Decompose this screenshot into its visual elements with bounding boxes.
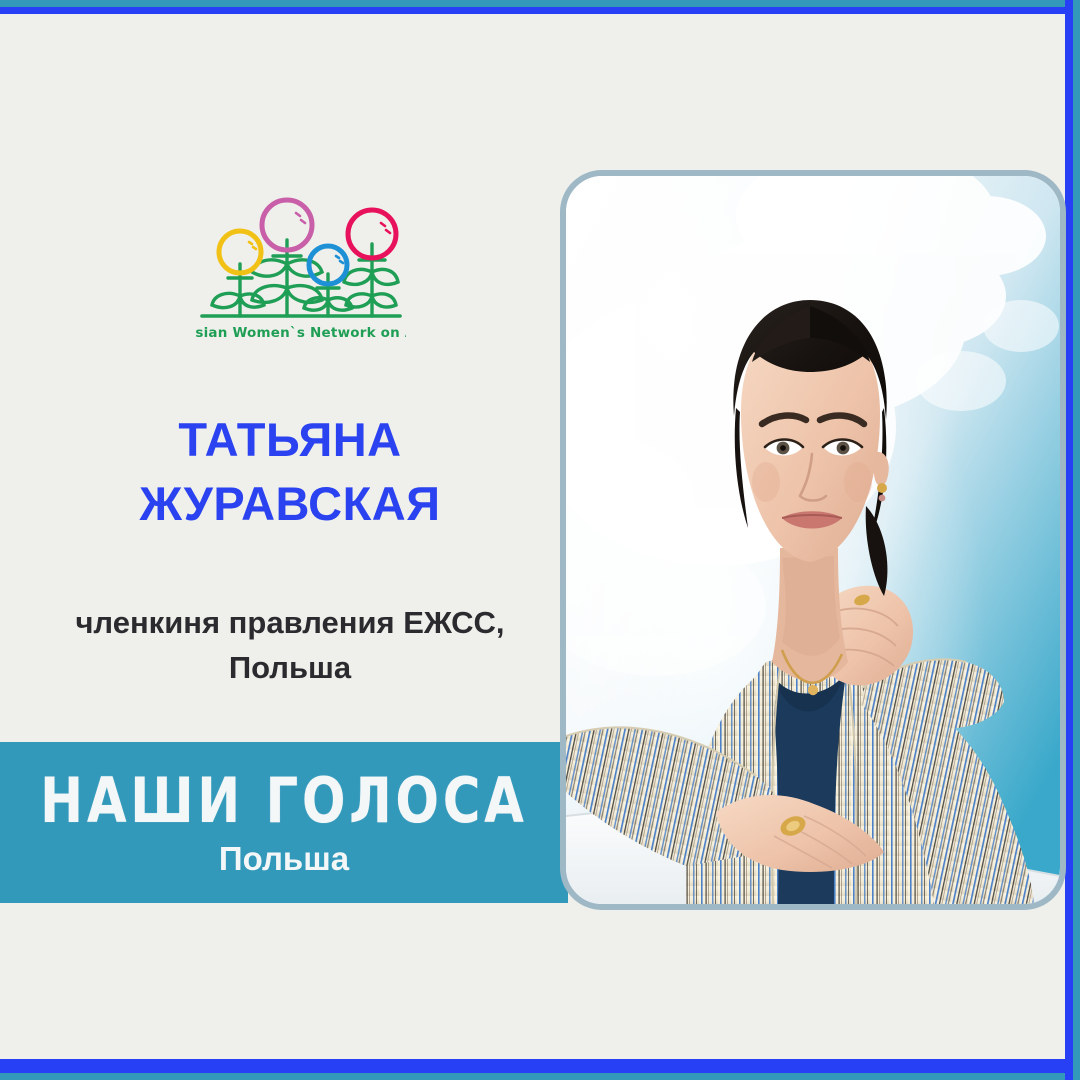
series-banner: НАШИ ГОЛОСА Польша [0, 742, 568, 903]
frame-band-right-blue [1065, 0, 1073, 1080]
ewna-logo: Eurasian Women`s Network on AIDS [196, 192, 406, 350]
frame-band-top-teal [0, 0, 1080, 7]
frame-band-right-teal [1073, 0, 1080, 1080]
person-name: ТАТЬЯНА ЖУРАВСКАЯ [10, 408, 570, 536]
series-banner-subtitle: Польша [219, 838, 349, 880]
person-name-line-2: ЖУРАВСКАЯ [10, 472, 570, 536]
logo-caption: Eurasian Women`s Network on AIDS [196, 325, 406, 341]
frame-band-top-blue [0, 7, 1080, 14]
poster-canvas: Eurasian Women`s Network on AIDS ТАТЬЯНА… [0, 0, 1080, 1080]
person-name-line-1: ТАТЬЯНА [10, 408, 570, 472]
portrait-photo-card [560, 170, 1066, 910]
person-role: членкиня правления ЕЖСС, Польша [10, 600, 570, 690]
frame-band-bottom-teal [0, 1073, 1080, 1080]
frame-band-bottom-blue [0, 1059, 1080, 1073]
portrait-photo [566, 176, 1060, 904]
person-role-line-1: членкиня правления ЕЖСС, [10, 600, 570, 645]
person-role-line-2: Польша [10, 645, 570, 690]
series-banner-title: НАШИ ГОЛОСА [40, 766, 527, 836]
